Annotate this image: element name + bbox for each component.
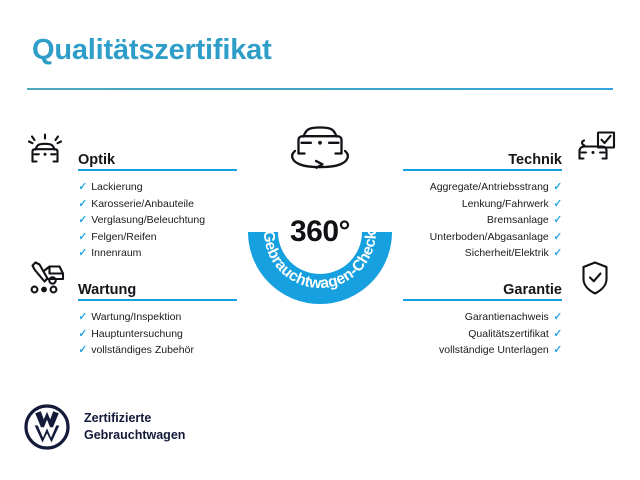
list-item-label: Lenkung/Fahrwerk [462, 198, 549, 210]
list-item-label: Felgen/Reifen [91, 231, 156, 243]
section-divider-garantie [403, 299, 562, 301]
section-title-wartung: Wartung [78, 282, 136, 298]
list-item: vollständige Unterlagen✓ [403, 342, 618, 359]
volkswagen-logo [24, 404, 70, 450]
list-item-label: Bremsanlage [487, 214, 549, 226]
list-item-label: Verglasung/Beleuchtung [91, 214, 205, 226]
check-icon: ✓ [553, 326, 562, 343]
section-divider-technik [403, 169, 562, 171]
footer-line-1: Zertifizierte [84, 410, 185, 427]
check-icon: ✓ [553, 179, 562, 196]
check-icon: ✓ [553, 196, 562, 213]
check-icon: ✓ [78, 212, 87, 229]
check-icon: ✓ [78, 309, 87, 326]
list-item: ✓Verglasung/Beleuchtung [22, 212, 237, 229]
section-header-optik: Optik [22, 128, 237, 170]
check-icon: ✓ [78, 342, 87, 359]
header-divider [27, 88, 613, 90]
check-icon: ✓ [553, 342, 562, 359]
section-optik: Optik ✓Lackierung ✓Karosserie/Anbauteile… [22, 128, 237, 262]
section-title-garantie: Garantie [503, 282, 562, 298]
check-icon: ✓ [78, 229, 87, 246]
list-item: Bremsanlage✓ [403, 212, 618, 229]
check-icon: ✓ [553, 229, 562, 246]
list-item-label: Aggregate/Antriebsstrang [430, 181, 549, 193]
car-pen-service-icon [22, 258, 68, 298]
check-icon: ✓ [78, 326, 87, 343]
list-item: Unterboden/Abgasanlage✓ [403, 229, 618, 246]
list-item: Lenkung/Fahrwerk✓ [403, 196, 618, 213]
footer-line-2: Gebrauchtwagen [84, 427, 185, 444]
list-item-label: Lackierung [91, 181, 142, 193]
footer-brand: Zertifizierte Gebrauchtwagen [24, 404, 185, 450]
check-icon: ✓ [78, 196, 87, 213]
list-item: ✓Hauptuntersuchung [22, 326, 237, 343]
section-wartung: Wartung ✓Wartung/Inspektion ✓Hauptunters… [22, 258, 237, 359]
checklist-garantie: Garantienachweis✓ Qualitätszertifikat✓ v… [403, 309, 618, 359]
section-technik: Technik Aggregate/Antriebsstrang✓ Lenkun… [403, 128, 618, 262]
360-gebrauchtwagen-check-badge: Gebrauchtwagen-Check 360° [240, 152, 400, 312]
list-item-label: Garantienachweis [465, 311, 549, 323]
list-item: ✓vollständiges Zubehör [22, 342, 237, 359]
section-title-optik: Optik [78, 152, 115, 168]
list-item-label: Unterboden/Abgasanlage [430, 231, 549, 243]
list-item: ✓Felgen/Reifen [22, 229, 237, 246]
list-item-label: Karosserie/Anbauteile [91, 198, 194, 210]
list-item: ✓Karosserie/Anbauteile [22, 196, 237, 213]
list-item-label: Hauptuntersuchung [91, 328, 183, 340]
list-item: Qualitätszertifikat✓ [403, 326, 618, 343]
section-garantie: Garantie Garantienachweis✓ Qualitätszert… [403, 258, 618, 359]
list-item-label: Wartung/Inspektion [91, 311, 181, 323]
check-icon: ✓ [78, 179, 87, 196]
section-header-garantie: Garantie [403, 258, 618, 300]
checklist-technik: Aggregate/Antriebsstrang✓ Lenkung/Fahrwe… [403, 179, 618, 262]
section-header-wartung: Wartung [22, 258, 237, 300]
car-shine-icon [22, 128, 68, 168]
car-checkbox-icon [572, 128, 618, 168]
checklist-optik: ✓Lackierung ✓Karosserie/Anbauteile ✓Verg… [22, 179, 237, 262]
list-item: Garantienachweis✓ [403, 309, 618, 326]
list-item: Aggregate/Antriebsstrang✓ [403, 179, 618, 196]
list-item: ✓Lackierung [22, 179, 237, 196]
check-icon: ✓ [553, 212, 562, 229]
section-divider-wartung [78, 299, 237, 301]
badge-center-label: 360° [240, 215, 400, 249]
page-title: Qualitätszertifikat [32, 34, 272, 67]
check-icon: ✓ [553, 309, 562, 326]
shield-check-icon [572, 258, 618, 298]
footer-text: Zertifizierte Gebrauchtwagen [84, 410, 185, 444]
section-header-technik: Technik [403, 128, 618, 170]
checklist-wartung: ✓Wartung/Inspektion ✓Hauptuntersuchung ✓… [22, 309, 237, 359]
car-rotate-icon [283, 120, 357, 176]
qualitaetszertifikat-page: Qualitätszertifikat [0, 0, 640, 480]
list-item-label: vollständige Unterlagen [439, 344, 549, 356]
list-item-label: vollständiges Zubehör [91, 344, 194, 356]
section-divider-optik [78, 169, 237, 171]
list-item-label: Qualitätszertifikat [468, 328, 549, 340]
list-item: ✓Wartung/Inspektion [22, 309, 237, 326]
section-title-technik: Technik [508, 152, 562, 168]
